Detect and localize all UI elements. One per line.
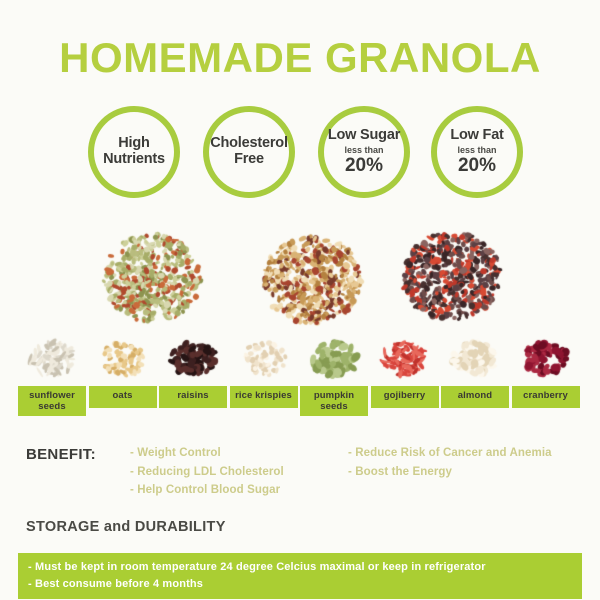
ingredient-gojiberry: gojiberry: [371, 334, 439, 408]
benefit-label: BENEFIT:: [26, 446, 96, 463]
granola-infographic: HOMEMADE GRANOLA High Nutrients Choleste…: [0, 0, 600, 600]
storage-line: - Best consume before 4 months: [28, 576, 572, 593]
pumpkin-seeds-photo: [300, 334, 368, 382]
badge-label-line1: Cholesterol: [210, 136, 288, 152]
storage-bar: - Must be kept in room temperature 24 de…: [18, 553, 582, 599]
badge-row: High Nutrients Cholesterol Free Low Suga…: [78, 106, 522, 200]
granola-pile-row: [0, 224, 600, 336]
badge-value: 20%: [345, 156, 383, 176]
ingredient-row: sunflower seedsoatsraisinsrice krispiesp…: [18, 334, 584, 414]
benefit-list-right: - Reduce Risk of Cancer and Anemia- Boos…: [348, 444, 552, 481]
badge-high-nutrients: High Nutrients: [88, 106, 180, 198]
sunflower-seeds-photo: [18, 334, 86, 382]
ingredient-label: raisins: [159, 386, 227, 408]
badge-low-sugar: Low Sugar less than 20%: [318, 106, 410, 198]
benefit-item: - Weight Control: [130, 444, 284, 463]
badge-label-line2: Nutrients: [103, 152, 165, 168]
gojiberry-photo: [371, 334, 439, 382]
granola-pile-green: [92, 226, 212, 330]
storage-line: - Must be kept in room temperature 24 de…: [28, 559, 572, 576]
benefit-item: - Help Control Blood Sugar: [130, 481, 284, 500]
ingredient-raisins: raisins: [159, 334, 227, 408]
raisins-photo: [159, 334, 227, 382]
ingredient-pumpkin-seeds: pumpkin seeds: [300, 334, 368, 416]
benefit-item: - Reduce Risk of Cancer and Anemia: [348, 444, 552, 463]
rice-krispies-photo: [230, 334, 298, 382]
badge-cholesterol-free: Cholesterol Free: [203, 106, 295, 198]
ingredient-label: almond: [441, 386, 509, 408]
badge-label-line1: High: [118, 136, 149, 152]
ingredient-label: gojiberry: [371, 386, 439, 408]
granola-pile-golden: [252, 228, 372, 332]
benefit-item: - Boost the Energy: [348, 463, 552, 482]
oats-photo: [89, 334, 157, 382]
ingredient-label: cranberry: [512, 386, 580, 408]
ingredient-label: sunflower seeds: [18, 386, 86, 416]
badge-value: 20%: [458, 156, 496, 176]
ingredient-label: oats: [89, 386, 157, 408]
benefit-item: - Reducing LDL Cholesterol: [130, 463, 284, 482]
ingredient-label: rice krispies: [230, 386, 298, 408]
ingredient-rice-krispies: rice krispies: [230, 334, 298, 408]
page-title: HOMEMADE GRANOLA: [0, 34, 600, 82]
granola-pile-dark: [392, 224, 512, 328]
cranberry-photo: [512, 334, 580, 382]
storage-heading: STORAGE and DURABILITY: [26, 519, 226, 535]
badge-label-line2: Free: [234, 152, 264, 168]
badge-label-line1: Low Fat: [450, 128, 503, 144]
ingredient-cranberry: cranberry: [512, 334, 580, 408]
badge-label-line1: Low Sugar: [328, 128, 400, 144]
badge-low-fat: Low Fat less than 20%: [431, 106, 523, 198]
ingredient-sunflower-seeds: sunflower seeds: [18, 334, 86, 416]
benefit-list-left: - Weight Control- Reducing LDL Cholester…: [130, 444, 284, 500]
ingredient-label: pumpkin seeds: [300, 386, 368, 416]
ingredient-oats: oats: [89, 334, 157, 408]
ingredient-almond: almond: [441, 334, 509, 408]
almond-photo: [441, 334, 509, 382]
